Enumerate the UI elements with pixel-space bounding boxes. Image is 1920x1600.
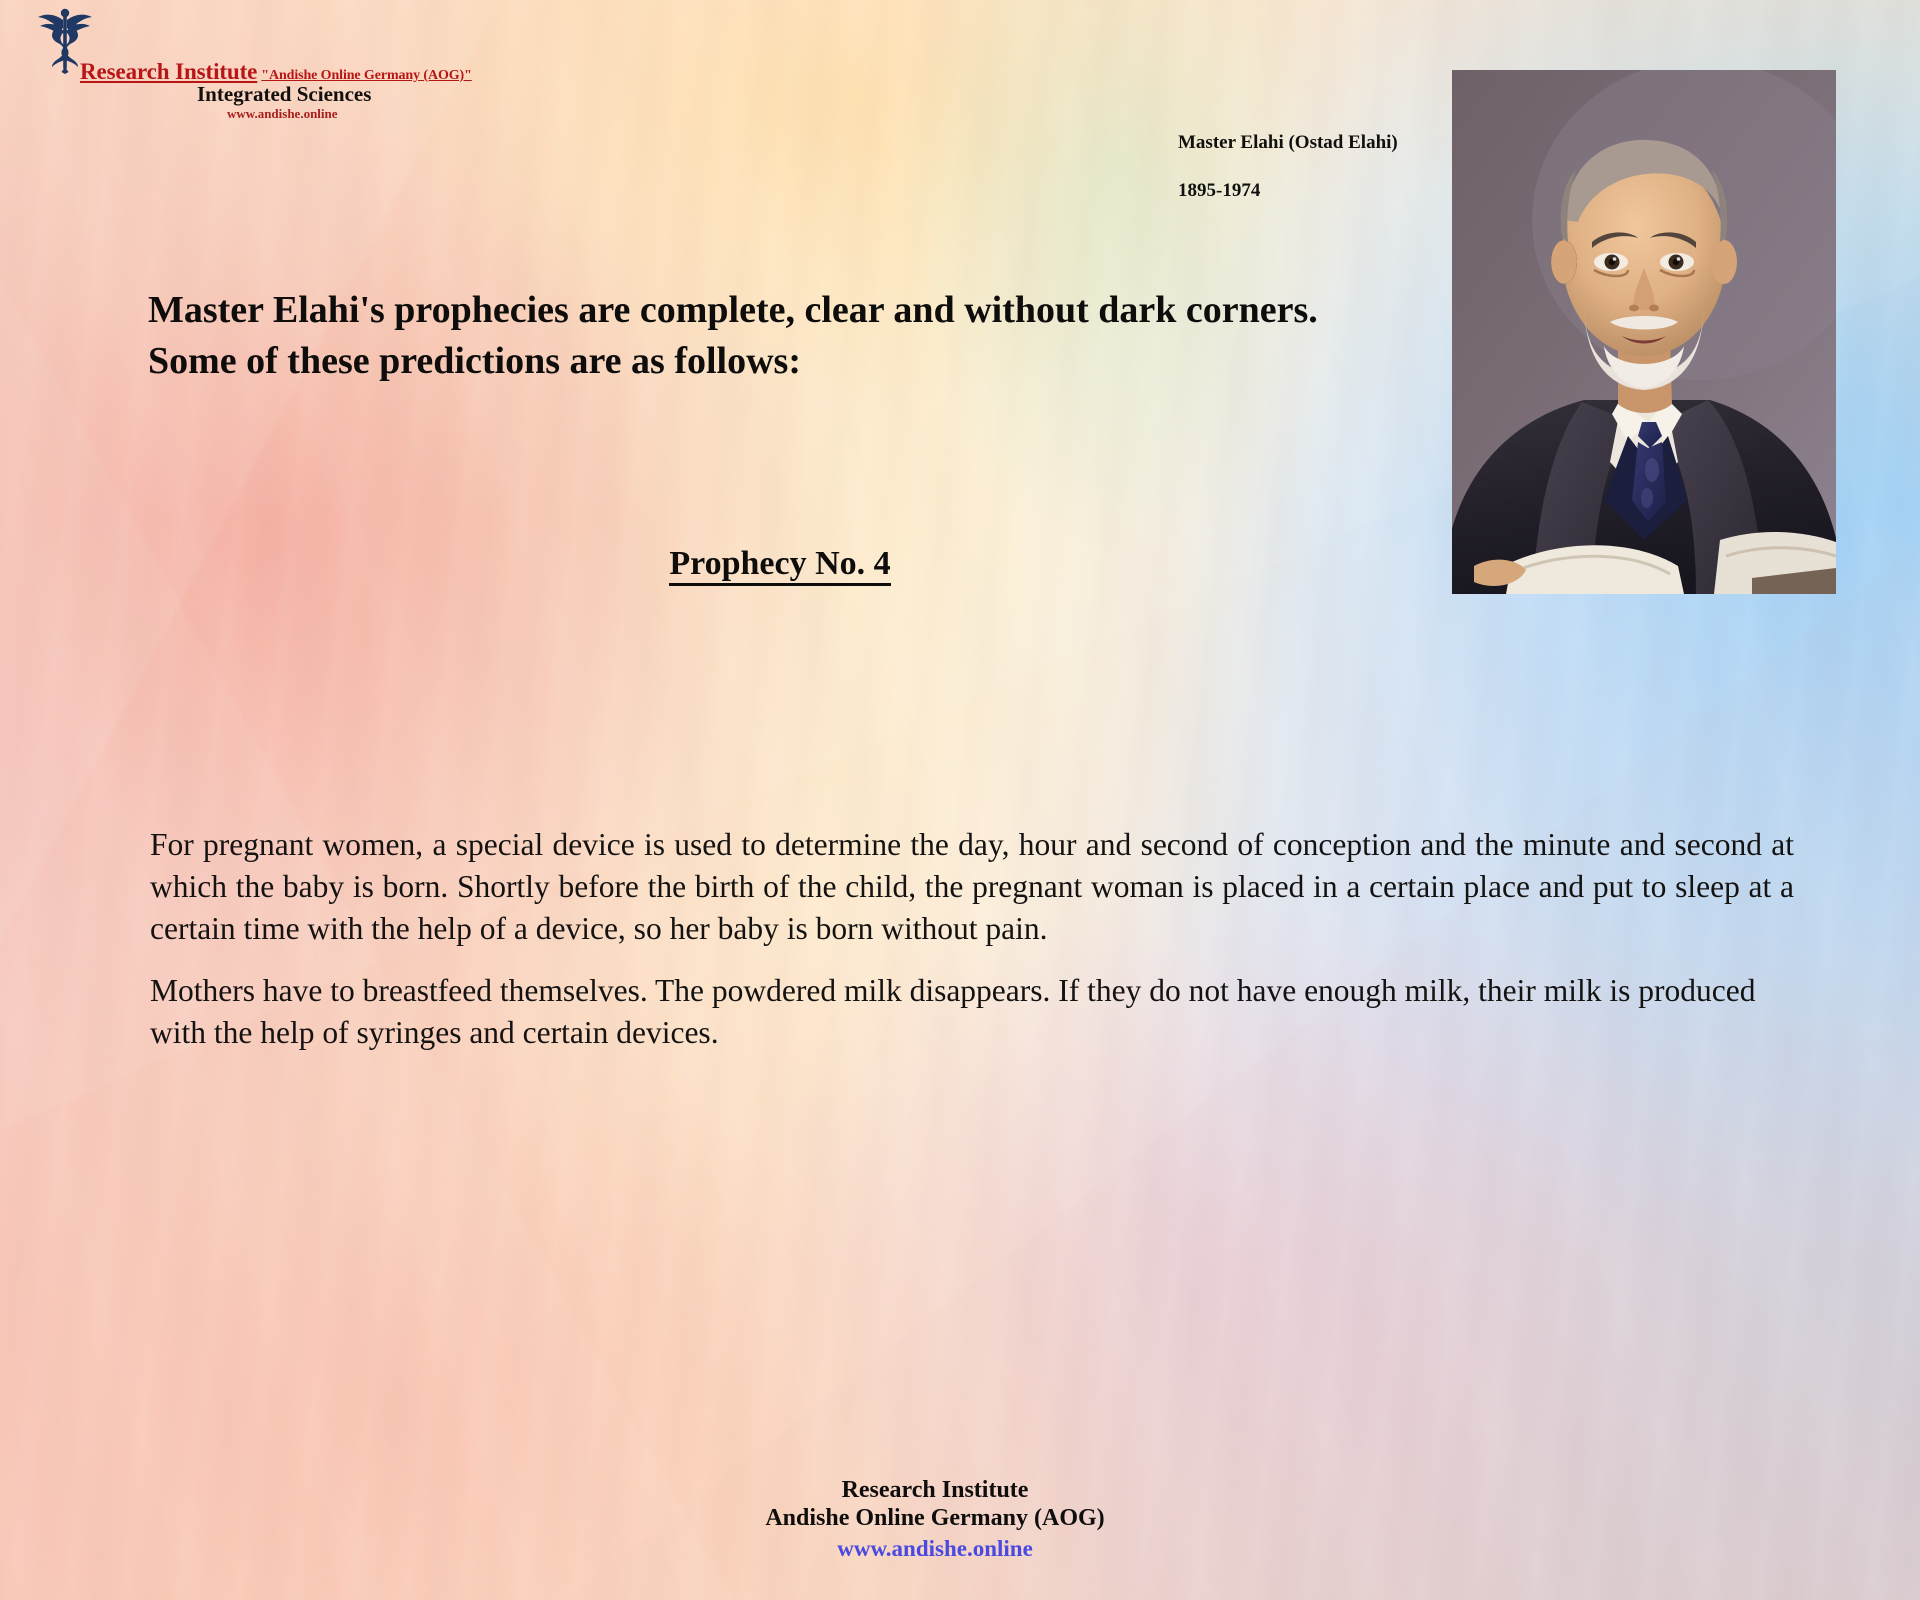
prophecy-paragraph-1: For pregnant women, a special device is … <box>150 824 1794 950</box>
footer-org: Andishe Online Germany (AOG) <box>0 1505 1870 1533</box>
portrait-name-label: Master Elahi (Ostad Elahi) <box>1178 132 1398 154</box>
prophecy-title-text: Prophecy No. 4 <box>669 545 890 586</box>
portrait-photo <box>1452 70 1836 594</box>
page-title: Master Elahi's prophecies are complete, … <box>148 285 1328 386</box>
slide-canvas: Research Institute "Andishe Online Germa… <box>0 0 1920 1600</box>
logo-title-line: Research Institute "Andishe Online Germa… <box>80 60 472 83</box>
footer-institute: Research Institute <box>0 1477 1870 1505</box>
prophecy-paragraph-2: Mothers have to breastfeed themselves. T… <box>150 970 1794 1054</box>
logo-website: www.andishe.online <box>227 106 338 122</box>
institute-suffix: "Andishe Online Germany (AOG)" <box>261 68 472 83</box>
institute-name: Research Institute <box>80 59 257 84</box>
footer: Research Institute Andishe Online German… <box>0 1477 1870 1562</box>
portrait-years-label: 1895-1974 <box>1178 180 1260 202</box>
logo-tagline: Integrated Sciences <box>197 82 371 107</box>
footer-website-link[interactable]: www.andishe.online <box>0 1536 1870 1563</box>
prophecy-title: Prophecy No. 4 <box>0 545 1560 583</box>
prophecy-body: For pregnant women, a special device is … <box>150 824 1794 1053</box>
